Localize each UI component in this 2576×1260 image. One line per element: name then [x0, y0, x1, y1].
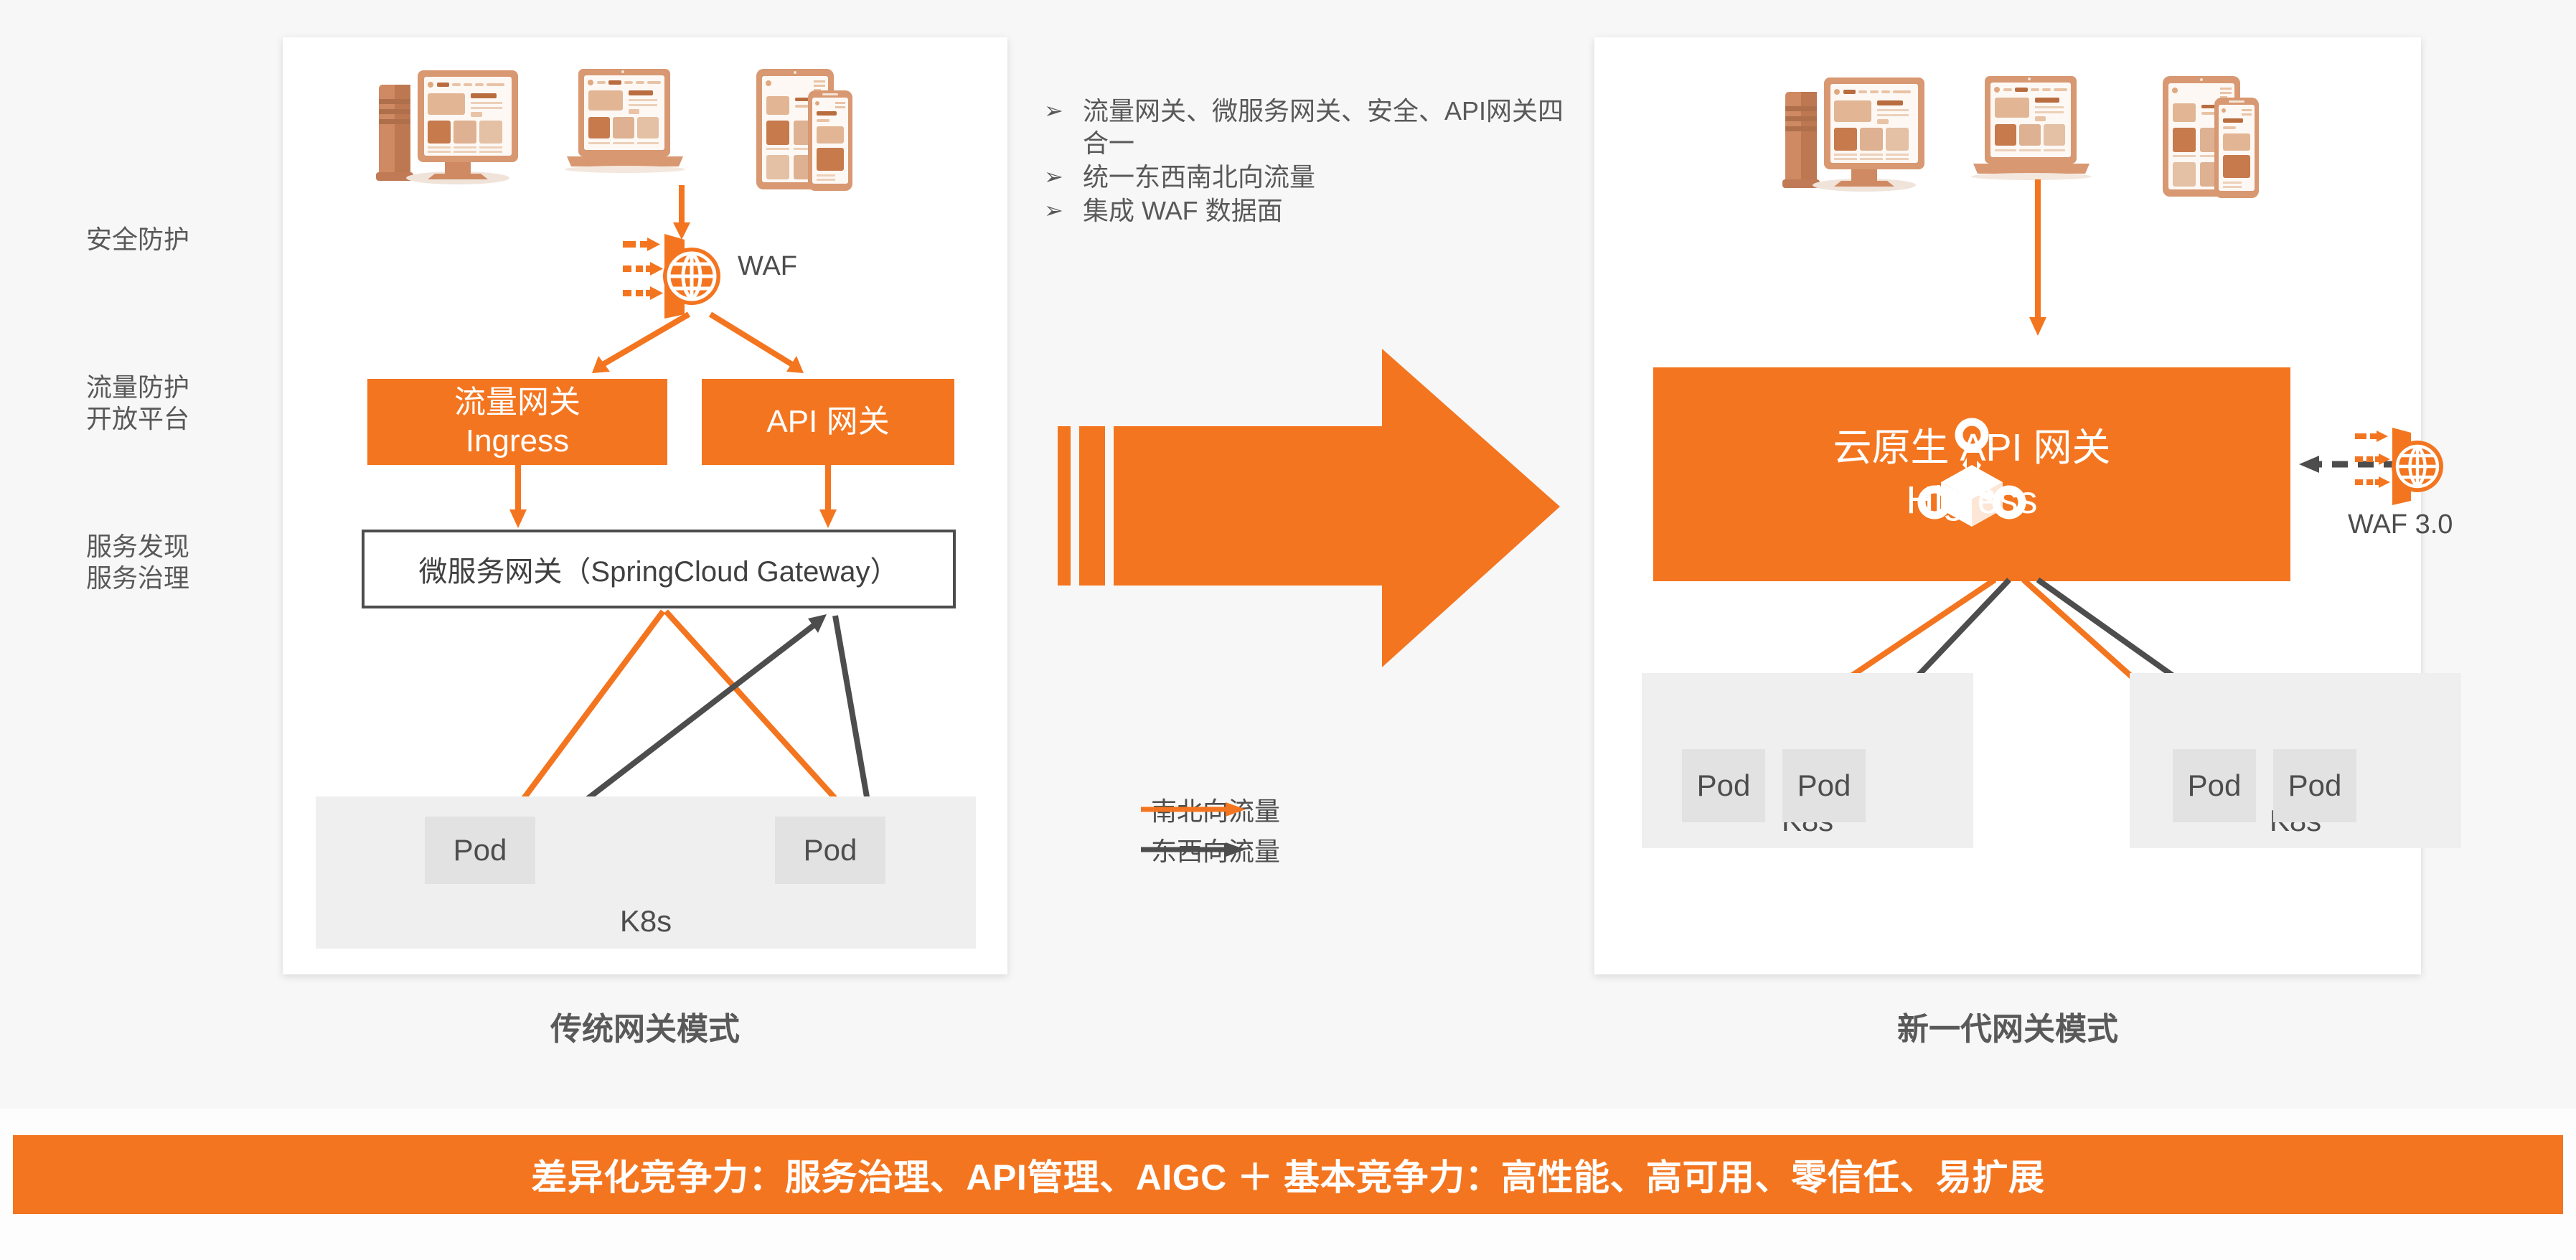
- pod-right-2-2-label: Pod: [2288, 768, 2342, 803]
- box-traffic-gateway-line2: Ingress: [466, 422, 569, 461]
- slide-root: 安全防护 流量防护 开放平台 服务发现 服务治理: [0, 0, 2576, 1260]
- pod-right-1-1[interactable]: Pod: [1682, 749, 1765, 822]
- pod-right-2-2[interactable]: Pod: [2273, 749, 2356, 822]
- legend-arrow-orange-icon: [1141, 800, 1249, 819]
- arrows-waf-to-gateways: [502, 309, 904, 387]
- row-label-service-governance: 服务发现 服务治理: [86, 531, 258, 594]
- client-devices-left: [373, 43, 918, 197]
- pod-right-2-1-label: Pod: [2188, 768, 2242, 803]
- pod-right-2-1[interactable]: Pod: [2173, 749, 2256, 822]
- box-microservice-gateway-label: 微服务网关（SpringCloud Gateway）: [418, 548, 898, 590]
- k8s-label-left: K8s: [316, 904, 976, 939]
- laptop-icon: [565, 69, 685, 173]
- box-api-gateway[interactable]: API 网关: [702, 379, 954, 465]
- legend-row-north-south: 南北向流量: [1141, 789, 1280, 829]
- waf3-label: WAF 3.0: [2348, 509, 2453, 540]
- desktop-monitor-icon: [1813, 77, 1924, 192]
- feature-bullet-list: ➢ 流量网关、微服务网关、安全、API网关四合一 ➢ 统一东西南北向流量 ➢ 集…: [1044, 95, 1575, 228]
- box-microservice-gateway[interactable]: 微服务网关（SpringCloud Gateway）: [362, 530, 956, 608]
- server-tower-icon: [1782, 92, 1820, 188]
- box-cloud-native-api-gateway[interactable]: 云原生 API 网关 Higress: [1653, 367, 2290, 581]
- pod-left-1-label: Pod: [453, 833, 507, 868]
- tablet-and-phone-icon: [756, 69, 852, 191]
- bullet-text-1: 流量网关、微服务网关、安全、API网关四合一: [1083, 95, 1575, 159]
- bullet-item-1: ➢ 流量网关、微服务网关、安全、API网关四合一: [1044, 95, 1575, 159]
- bullet-marker-icon-2: ➢: [1044, 161, 1083, 193]
- box-api-gateway-line1: API 网关: [766, 403, 889, 441]
- bullet-text-2: 统一东西南北向流量: [1083, 161, 1575, 193]
- bullet-text-3: 集成 WAF 数据面: [1083, 194, 1575, 227]
- legacy-gateway-title: 传统网关模式: [283, 1003, 1007, 1049]
- arrows-gateways-to-msgw: [495, 465, 926, 531]
- value-proposition-banner: 差异化竞争力：服务治理、API管理、AIGC ＋ 基本竞争力：高性能、高可用、零…: [13, 1135, 2563, 1214]
- pod-left-1[interactable]: Pod: [425, 817, 535, 884]
- server-tower-icon: [376, 85, 413, 181]
- bullet-marker-icon-3: ➢: [1044, 194, 1083, 227]
- bullet-item-2: ➢ 统一东西南北向流量: [1044, 161, 1575, 193]
- pod-right-1-2[interactable]: Pod: [1782, 749, 1866, 822]
- bullet-item-3: ➢ 集成 WAF 数据面: [1044, 194, 1575, 227]
- pod-right-1-1-label: Pod: [1697, 768, 1751, 803]
- waf-label-left: WAF: [738, 251, 797, 282]
- cube-mesh-icon: [1915, 418, 2029, 531]
- arrow-devices-to-higress: [2016, 179, 2059, 337]
- desktop-monitor-icon: [406, 70, 518, 184]
- pod-left-2[interactable]: Pod: [775, 817, 885, 884]
- legend-row-east-west: 东西向流量: [1141, 829, 1280, 870]
- row-label-security: 安全防护: [86, 224, 258, 255]
- laptop-icon: [1971, 76, 2092, 180]
- pod-right-1-2-label: Pod: [1797, 768, 1851, 803]
- traffic-legend: 南北向流量 东西向流量: [1141, 789, 1280, 870]
- box-traffic-gateway-line1: 流量网关: [454, 383, 580, 422]
- waf3-shield-globe-icon: [2355, 425, 2444, 508]
- row-label-traffic-platform: 流量防护 开放平台: [86, 372, 258, 435]
- pod-left-2-label: Pod: [804, 833, 857, 868]
- legend-arrow-dark-icon: [1141, 840, 1249, 859]
- transition-arrow-icon: [1058, 336, 1560, 680]
- bullet-marker-icon-1: ➢: [1044, 95, 1083, 127]
- box-traffic-gateway[interactable]: 流量网关 Ingress: [367, 379, 667, 465]
- value-proposition-text: 差异化竞争力：服务治理、API管理、AIGC ＋ 基本竞争力：高性能、高可用、零…: [531, 1149, 2044, 1200]
- nextgen-gateway-title: 新一代网关模式: [1594, 1003, 2421, 1049]
- tablet-and-phone-icon: [2163, 76, 2259, 198]
